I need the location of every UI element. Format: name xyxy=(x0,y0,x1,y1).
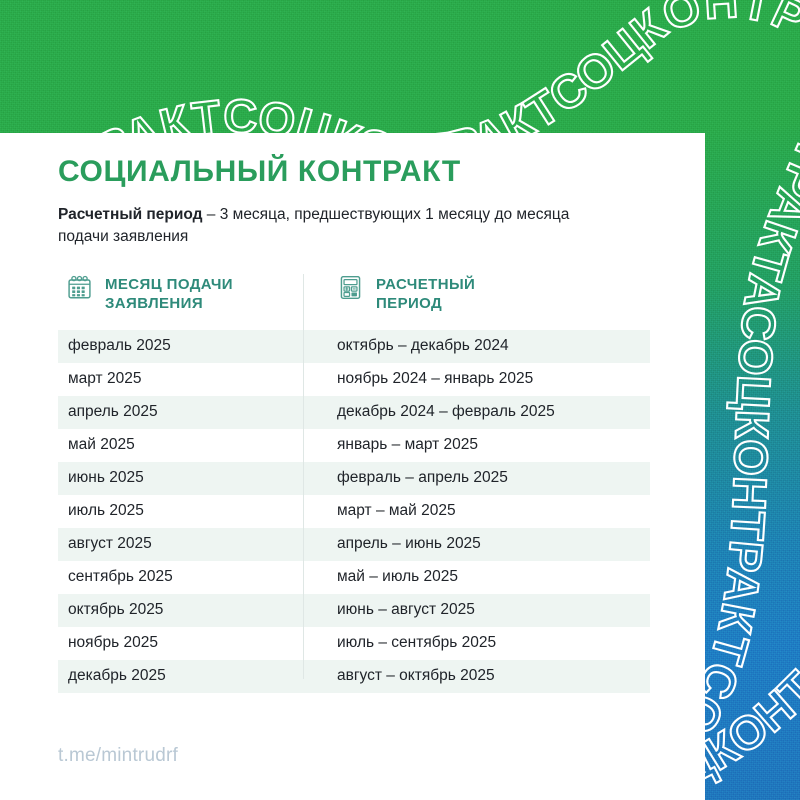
table-header-row: МЕСЯЦ ПОДАЧИ ЗАЯВЛЕНИЯ xyxy=(58,274,650,330)
table-body: февраль 2025октябрь – декабрь 2024март 2… xyxy=(58,330,650,693)
table-row: ноябрь 2025июль – сентябрь 2025 xyxy=(58,627,650,660)
poster-root: СОЦКОНТРАКТСОЦКОНТРАКТСОЦКОНТРАКТ КОНТРА… xyxy=(0,0,800,800)
table-row: апрель 2025декабрь 2024 – февраль 2025 xyxy=(58,396,650,429)
calendar-icon xyxy=(66,274,93,301)
subtitle-lead: Расчетный период xyxy=(58,206,203,223)
cell-month: апрель 2025 xyxy=(58,404,303,420)
table-row: сентябрь 2025май – июль 2025 xyxy=(58,561,650,594)
table-row: декабрь 2025август – октябрь 2025 xyxy=(58,660,650,693)
cell-period: август – октябрь 2025 xyxy=(303,668,650,684)
cell-period: июль – сентябрь 2025 xyxy=(303,635,650,651)
cell-month: декабрь 2025 xyxy=(58,668,303,684)
table-row: июль 2025март – май 2025 xyxy=(58,495,650,528)
cell-month: ноябрь 2025 xyxy=(58,635,303,651)
column-divider xyxy=(303,274,304,679)
table-row: октябрь 2025июнь – август 2025 xyxy=(58,594,650,627)
cell-month: май 2025 xyxy=(58,437,303,453)
table-header-month: МЕСЯЦ ПОДАЧИ ЗАЯВЛЕНИЯ xyxy=(66,274,311,314)
table-header-period-label: РАСЧЕТНЫЙ ПЕРИОД xyxy=(376,274,475,314)
table-row: март 2025ноябрь 2024 – январь 2025 xyxy=(58,363,650,396)
cell-period: февраль – апрель 2025 xyxy=(303,470,650,486)
calculation-period-table: МЕСЯЦ ПОДАЧИ ЗАЯВЛЕНИЯ xyxy=(58,274,650,693)
cell-period: октябрь – декабрь 2024 xyxy=(303,338,650,354)
cell-period: декабрь 2024 – февраль 2025 xyxy=(303,404,650,420)
table-header-month-label: МЕСЯЦ ПОДАЧИ ЗАЯВЛЕНИЯ xyxy=(105,274,233,314)
table-row: август 2025апрель – июнь 2025 xyxy=(58,528,650,561)
cell-month: февраль 2025 xyxy=(58,338,303,354)
cell-month: июль 2025 xyxy=(58,503,303,519)
cell-period: июнь – август 2025 xyxy=(303,602,650,618)
cell-month: март 2025 xyxy=(58,371,303,387)
telegram-link[interactable]: t.me/mintrudrf xyxy=(58,745,178,767)
cell-period: ноябрь 2024 – январь 2025 xyxy=(303,371,650,387)
table-header-period: РАСЧЕТНЫЙ ПЕРИОД xyxy=(311,274,650,314)
cell-month: октябрь 2025 xyxy=(58,602,303,618)
cell-month: июнь 2025 xyxy=(58,470,303,486)
subtitle: Расчетный период – 3 месяца, предшествую… xyxy=(58,204,618,248)
content-card: СОЦИАЛЬНЫЙ КОНТРАКТ Расчетный период – 3… xyxy=(0,133,705,800)
table-row: февраль 2025октябрь – декабрь 2024 xyxy=(58,330,650,363)
cell-month: сентябрь 2025 xyxy=(58,569,303,585)
cell-period: март – май 2025 xyxy=(303,503,650,519)
cell-period: апрель – июнь 2025 xyxy=(303,536,650,552)
calculator-icon xyxy=(337,274,364,301)
table-row: май 2025январь – март 2025 xyxy=(58,429,650,462)
page-title: СОЦИАЛЬНЫЙ КОНТРАКТ xyxy=(58,155,681,188)
cell-period: январь – март 2025 xyxy=(303,437,650,453)
cell-month: август 2025 xyxy=(58,536,303,552)
cell-period: май – июль 2025 xyxy=(303,569,650,585)
table-row: июнь 2025февраль – апрель 2025 xyxy=(58,462,650,495)
